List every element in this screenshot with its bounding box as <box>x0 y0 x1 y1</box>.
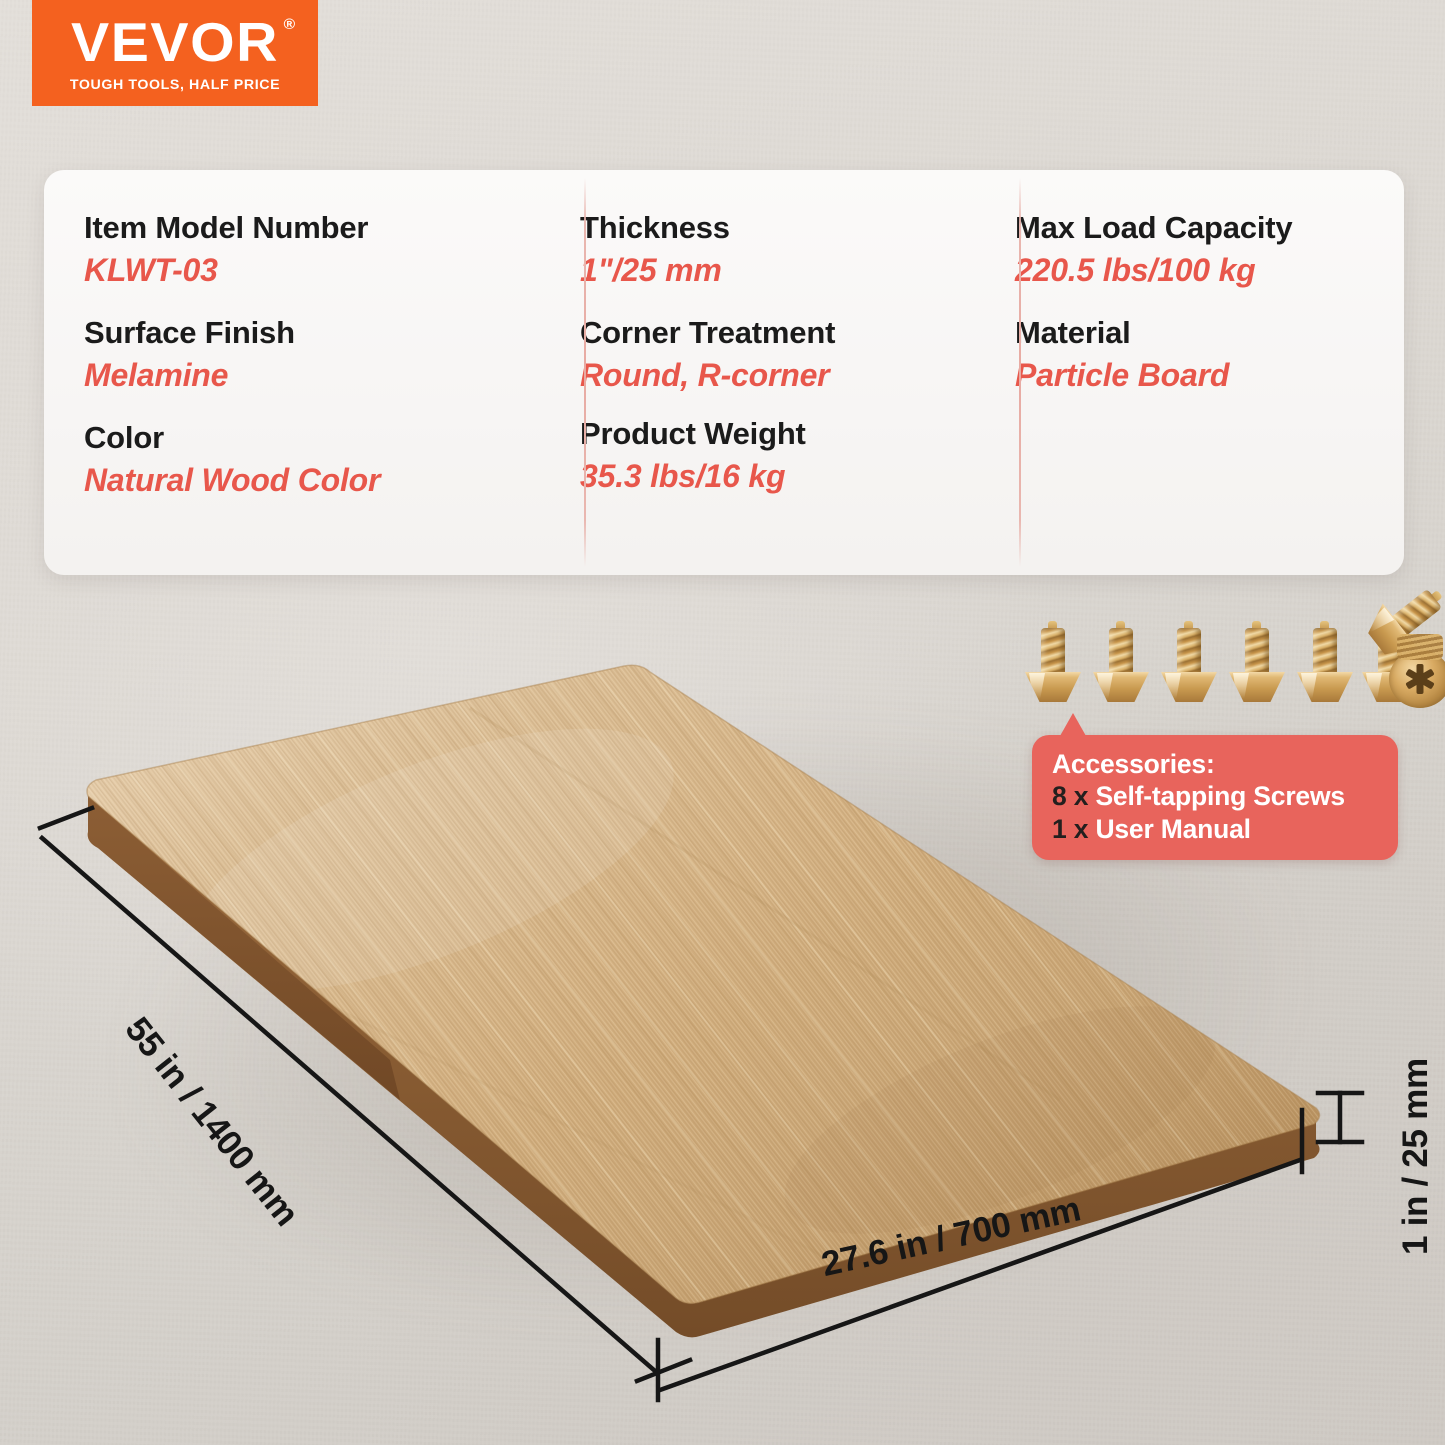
spec-value: Natural Wood Color <box>84 461 540 499</box>
spec-label: Material <box>1015 315 1404 352</box>
specification-card: Item Model Number KLWT-03 Surface Finish… <box>44 170 1404 575</box>
accessory-item: 8 x Self-tapping Screws <box>1052 780 1380 812</box>
spec-column-1: Item Model Number KLWT-03 Surface Finish… <box>44 170 540 575</box>
registered-trademark-icon: ® <box>284 17 297 32</box>
spec-row-max-load: Max Load Capacity 220.5 lbs/100 kg <box>1015 210 1404 289</box>
spec-row-surface-finish: Surface Finish Melamine <box>84 315 540 394</box>
spec-row-color: Color Natural Wood Color <box>84 420 540 499</box>
spec-value: Melamine <box>84 356 540 394</box>
spec-row-thickness: Thickness 1"/25 mm <box>580 210 975 289</box>
logo-wordmark: VEVOR ® <box>71 15 279 70</box>
spec-row-product-weight: Product Weight 35.3 lbs/16 kg <box>580 416 975 495</box>
spec-value: 35.3 lbs/16 kg <box>580 457 975 495</box>
spec-label: Item Model Number <box>84 210 540 247</box>
spec-label: Thickness <box>580 210 975 247</box>
logo-tagline: TOUGH TOOLS, HALF PRICE <box>70 77 280 93</box>
spec-value: KLWT-03 <box>84 251 540 289</box>
accessories-callout: Accessories: 8 x Self-tapping Screws 1 x… <box>1032 735 1398 860</box>
spec-value: Round, R-corner <box>580 356 975 394</box>
spec-value: Particle Board <box>1015 356 1404 394</box>
accessory-screws-group <box>1025 608 1415 728</box>
spec-label: Corner Treatment <box>580 315 975 352</box>
column-divider-1 <box>584 178 586 567</box>
spec-label: Surface Finish <box>84 315 540 352</box>
column-divider-2 <box>1019 178 1021 567</box>
spec-label: Max Load Capacity <box>1015 210 1404 247</box>
accessory-item: 1 x User Manual <box>1052 813 1380 845</box>
accessory-qty: 1 <box>1052 814 1067 844</box>
accessory-name: Self-tapping Screws <box>1095 781 1344 811</box>
spec-label: Product Weight <box>580 416 975 453</box>
product-infographic: VEVOR ® TOUGH TOOLS, HALF PRICE Item Mod… <box>0 0 1445 1445</box>
screw-head-on-icon <box>1389 650 1445 708</box>
spec-label: Color <box>84 420 540 457</box>
accessory-qty: 8 <box>1052 781 1067 811</box>
accessories-title: Accessories: <box>1052 748 1380 780</box>
spec-row-corner-treatment: Corner Treatment Round, R-corner <box>580 315 975 394</box>
accessory-name: User Manual <box>1095 814 1250 844</box>
logo-brand-text: VEVOR <box>71 11 279 73</box>
spec-row-model: Item Model Number KLWT-03 <box>84 210 540 289</box>
thickness-dimension-label: 1 in / 25 mm <box>1396 1058 1436 1255</box>
spec-value: 1"/25 mm <box>580 251 975 289</box>
spec-value: 220.5 lbs/100 kg <box>1015 251 1404 289</box>
accessory-separator: x <box>1074 781 1089 811</box>
spec-column-3: Max Load Capacity 220.5 lbs/100 kg Mater… <box>975 170 1404 575</box>
vevor-logo: VEVOR ® TOUGH TOOLS, HALF PRICE <box>32 0 318 106</box>
spec-column-2: Thickness 1"/25 mm Corner Treatment Roun… <box>540 170 975 575</box>
accessory-separator: x <box>1074 814 1089 844</box>
spec-row-material: Material Particle Board <box>1015 315 1404 394</box>
